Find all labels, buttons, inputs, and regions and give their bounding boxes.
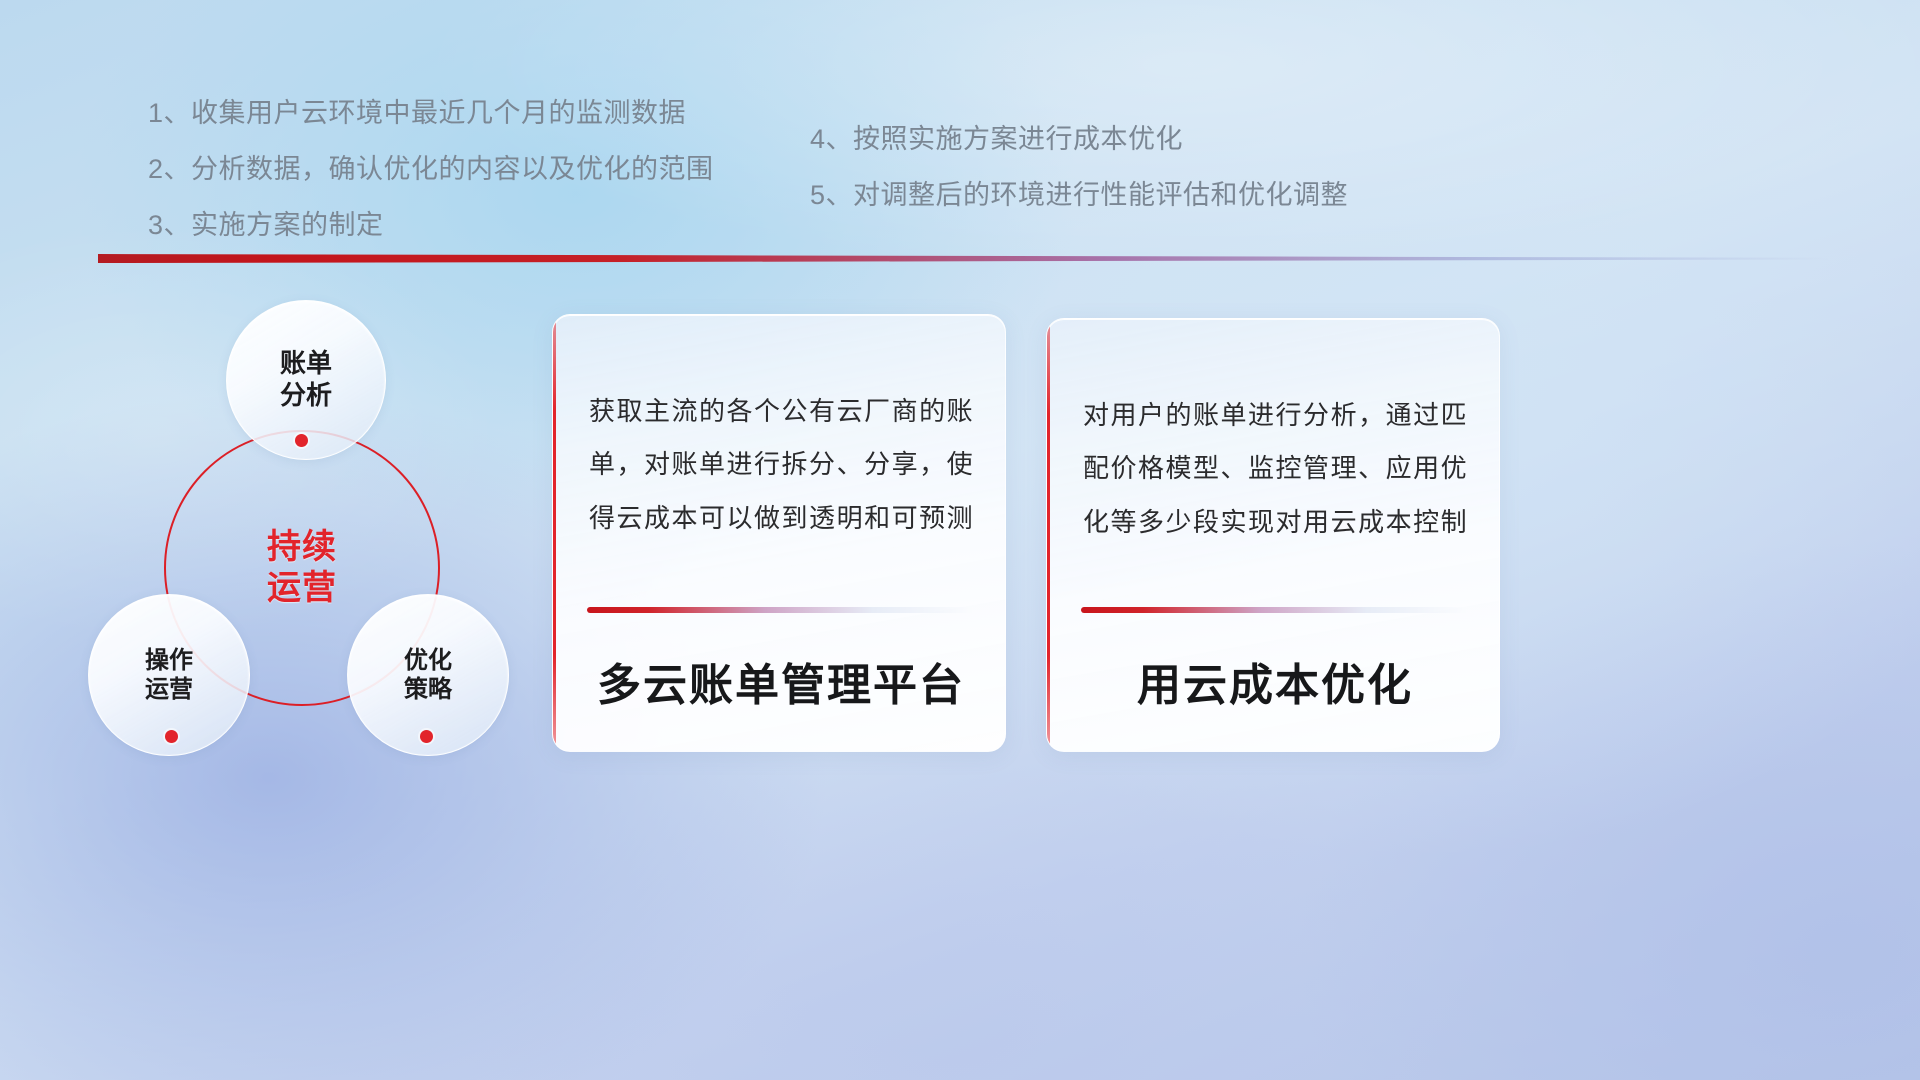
feature-card-cloud-cost-optimization[interactable]: 对用户的账单进行分析，通过匹配价格模型、监控管理、应用优化等多少段实现对用云成本… [1046, 318, 1500, 752]
venn-diagram: 持续 运营 账单 分析 操作 运营 优化 策略 [80, 282, 540, 782]
node-top-line-2: 分析 [280, 380, 332, 412]
feature-card-multicloud-billing[interactable]: 获取主流的各个公有云厂商的账单，对账单进行拆分、分享，使得云成本可以做到透明和可… [552, 314, 1006, 752]
step-item-5: 5、对调整后的环境进行性能评估和优化调整 [810, 182, 1348, 209]
step-item-3: 3、实施方案的制定 [148, 212, 714, 239]
node-left-line-2: 运营 [145, 675, 193, 704]
card-body-text: 对用户的账单进行分析，通过匹配价格模型、监控管理、应用优化等多少段实现对用云成本… [1083, 389, 1467, 549]
steps-list-left: 1、收集用户云环境中最近几个月的监测数据 2、分析数据，确认优化的内容以及优化的… [148, 100, 714, 239]
node-right-line-2: 策略 [404, 675, 452, 704]
step-item-4: 4、按照实施方案进行成本优化 [810, 126, 1348, 153]
card-body-text: 获取主流的各个公有云厂商的账单，对账单进行拆分、分享，使得云成本可以做到透明和可… [589, 385, 973, 545]
step-item-2: 2、分析数据，确认优化的内容以及优化的范围 [148, 156, 714, 183]
node-dot-top-icon [295, 434, 308, 447]
step-item-1: 1、收集用户云环境中最近几个月的监测数据 [148, 100, 714, 127]
divider-bar [98, 254, 1830, 263]
node-top-line-1: 账单 [280, 348, 332, 380]
node-right-line-1: 优化 [404, 646, 452, 675]
steps-list-right: 4、按照实施方案进行成本优化 5、对调整后的环境进行性能评估和优化调整 [810, 126, 1348, 209]
card-left-accent-bar [1047, 319, 1050, 751]
red-divider-line [98, 254, 1830, 263]
card-left-accent-bar [553, 315, 556, 751]
card-title: 多云账单管理平台 [589, 649, 973, 713]
slide-stage: 1、收集用户云环境中最近几个月的监测数据 2、分析数据，确认优化的内容以及优化的… [0, 0, 1920, 1080]
node-left-line-1: 操作 [145, 646, 193, 675]
card-underline-rule [1081, 607, 1467, 613]
node-dot-right-icon [420, 730, 433, 743]
card-title: 用云成本优化 [1083, 649, 1467, 713]
center-label-line-2: 运营 [267, 568, 337, 609]
card-underline-rule [587, 607, 973, 613]
center-label-line-1: 持续 [267, 527, 337, 568]
node-dot-left-icon [165, 730, 178, 743]
